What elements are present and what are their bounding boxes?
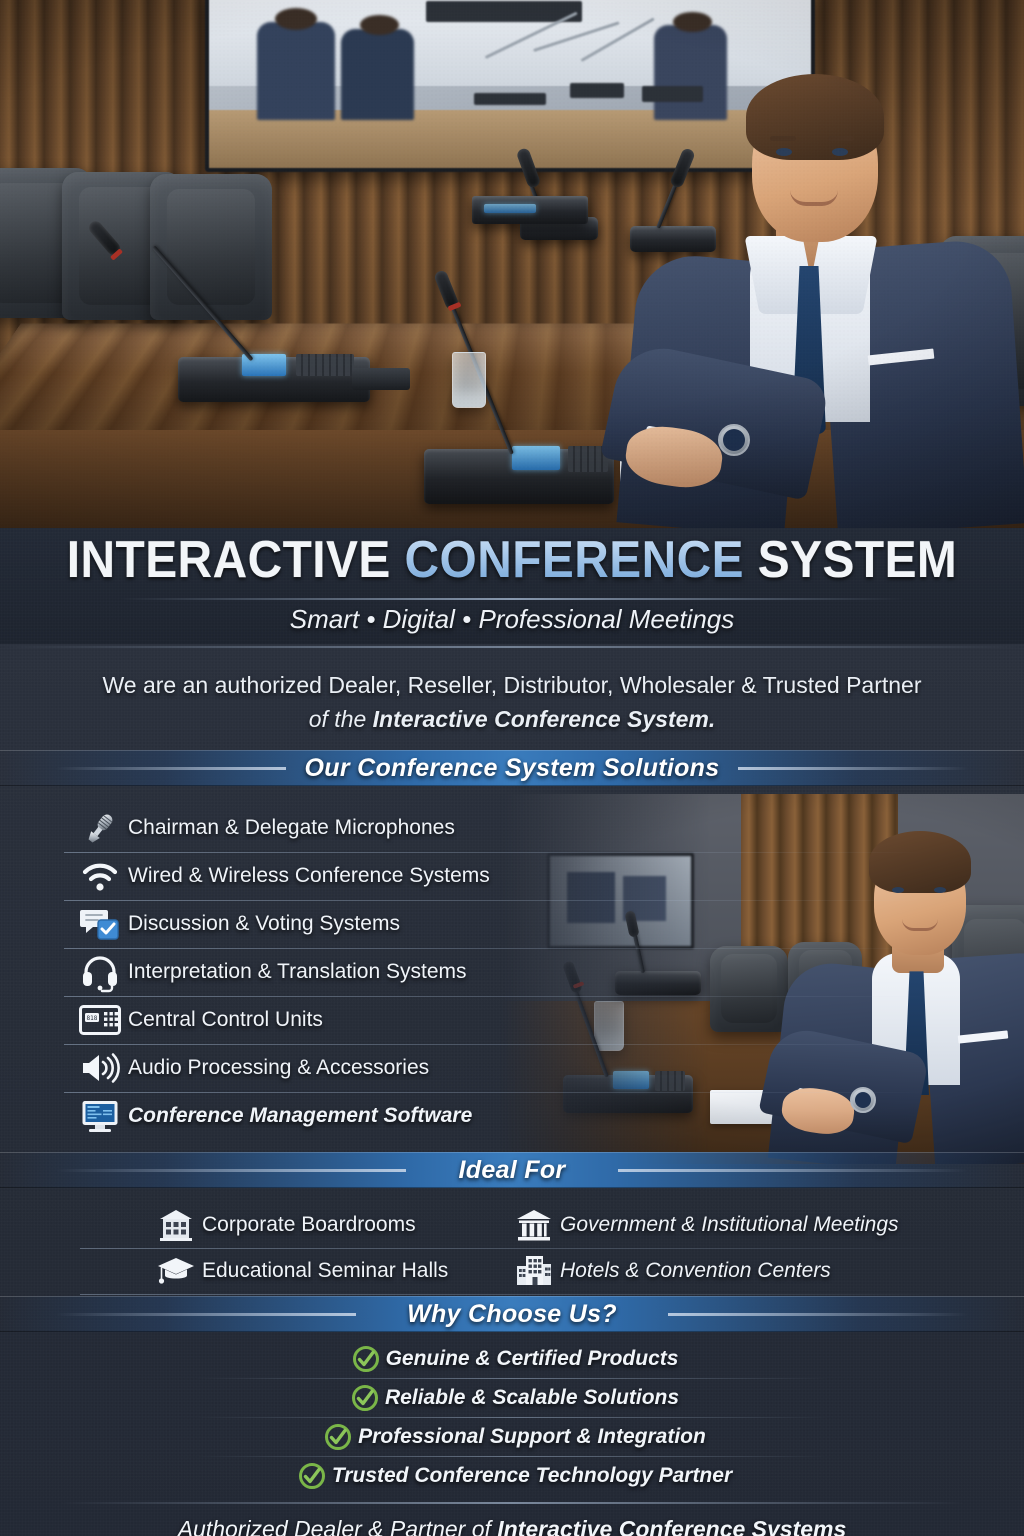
poster-body: We are an authorized Dealer, Reseller, D…: [0, 644, 1024, 1536]
solution-label: Audio Processing & Accessories: [128, 1056, 429, 1080]
why-label: Trusted Conference Technology Partner: [332, 1464, 732, 1488]
page-subtitle: Smart • Digital • Professional Meetings: [0, 604, 1024, 635]
footer-divider: [60, 1502, 964, 1504]
classical-building-icon: [508, 1205, 560, 1245]
check-circle-icon: [345, 1381, 385, 1415]
intro-emphasis: Interactive Conference System.: [373, 706, 716, 732]
why-item-genuine-certified-products[interactable]: Genuine & Certified Products: [0, 1338, 1024, 1380]
solution-item-discussion-voting-systems[interactable]: Discussion & Voting Systems: [72, 900, 552, 948]
check-circle-icon: [346, 1342, 386, 1376]
ideal-item-hotels-convention-centers[interactable]: Hotels & Convention Centers: [508, 1248, 831, 1294]
solution-label: Central Control Units: [128, 1008, 323, 1032]
chat-vote-icon: [72, 904, 128, 944]
graduation-cap-icon: [150, 1251, 202, 1291]
why-item-professional-support-integration[interactable]: Professional Support & Integration: [0, 1416, 1024, 1458]
svg-text:818: 818: [87, 1015, 98, 1022]
solution-label: Chairman & Delegate Microphones: [128, 816, 455, 840]
chairman-microphone-unit: [178, 330, 370, 402]
ideal-label: Government & Institutional Meetings: [560, 1213, 899, 1237]
footer-prefix: Authorized Dealer & Partner of: [178, 1516, 498, 1536]
intro-text-1: We are an authorized Dealer, Reseller, D…: [102, 672, 921, 698]
title-part-1: INTERACTIVE: [67, 531, 405, 589]
title-divider: [120, 598, 904, 600]
solution-label: Interpretation & Translation Systems: [128, 960, 467, 984]
hero-conference-room-photo: [0, 0, 1024, 528]
speaker-icon: [72, 1048, 128, 1088]
ideal-item-corporate-boardrooms[interactable]: Corporate Boardrooms: [150, 1202, 416, 1248]
footer-emphasis: Interactive Conference Systems: [497, 1516, 846, 1536]
section-header-solutions: Our Conference System Solutions: [0, 750, 1024, 786]
solution-label: Wired & Wireless Conference Systems: [128, 864, 490, 888]
hotel-icon: [508, 1251, 560, 1291]
ideal-item-educational-seminar-halls[interactable]: Educational Seminar Halls: [150, 1248, 448, 1294]
solution-label: Conference Management Software: [128, 1104, 472, 1128]
inline-conference-photo: [500, 794, 1024, 1164]
title-band: INTERACTIVE CONFERENCE SYSTEM Smart • Di…: [0, 528, 1024, 644]
businessman-photo-subject: [600, 30, 1024, 528]
chair: [150, 174, 272, 320]
title-highlight: CONFERENCE: [405, 531, 745, 589]
ideal-item-government-institutional-meetings[interactable]: Government & Institutional Meetings: [508, 1202, 899, 1248]
office-building-icon: [150, 1205, 202, 1245]
headset-icon: [72, 952, 128, 992]
solution-label: Discussion & Voting Systems: [128, 912, 400, 936]
section-header-why-choose-us: Why Choose Us?: [0, 1296, 1024, 1332]
intro-prefix: of the: [309, 706, 373, 732]
microphone-icon: [72, 808, 128, 848]
why-item-reliable-scalable-solutions[interactable]: Reliable & Scalable Solutions: [0, 1377, 1024, 1419]
central-control-unit: [472, 196, 588, 224]
solution-item-audio-processing-accessories[interactable]: Audio Processing & Accessories: [72, 1044, 552, 1092]
intro-top-divider: [0, 646, 1024, 648]
why-item-trusted-conference-technology-partner[interactable]: Trusted Conference Technology Partner: [0, 1455, 1024, 1497]
table-plate: [352, 368, 410, 390]
page-title: INTERACTIVE CONFERENCE SYSTEM: [41, 534, 983, 586]
intro-line-1: We are an authorized Dealer, Reseller, D…: [0, 668, 1024, 702]
wifi-icon: [72, 856, 128, 896]
poster-root: INTERACTIVE CONFERENCE SYSTEM Smart • Di…: [0, 0, 1024, 1536]
water-glass: [452, 352, 486, 408]
monitor-icon: [72, 1096, 128, 1136]
control-unit-icon: 818: [72, 1000, 128, 1040]
intro-line-2: of the Interactive Conference System.: [0, 702, 1024, 736]
title-part-2: SYSTEM: [744, 531, 957, 589]
footer-text: Authorized Dealer & Partner of Interacti…: [0, 1516, 1024, 1536]
ideal-label: Educational Seminar Halls: [202, 1259, 448, 1283]
why-label: Reliable & Scalable Solutions: [385, 1386, 679, 1410]
solution-item-chairman-delegate-microphones[interactable]: Chairman & Delegate Microphones: [72, 804, 552, 852]
why-label: Genuine & Certified Products: [386, 1347, 679, 1371]
why-label: Professional Support & Integration: [358, 1425, 706, 1449]
section-header-ideal-for: Ideal For: [0, 1152, 1024, 1188]
check-circle-icon: [292, 1459, 332, 1493]
check-circle-icon: [318, 1420, 358, 1454]
ideal-label: Hotels & Convention Centers: [560, 1259, 831, 1283]
solution-item-conference-management-software[interactable]: Conference Management Software: [72, 1092, 552, 1140]
solution-item-interpretation-translation-systems[interactable]: Interpretation & Translation Systems: [72, 948, 552, 996]
solution-item-central-control-units[interactable]: 818 Central Control Units: [72, 996, 552, 1044]
ideal-label: Corporate Boardrooms: [202, 1213, 416, 1237]
solution-item-wired-wireless-conference-systems[interactable]: Wired & Wireless Conference Systems: [72, 852, 552, 900]
chairman-microphone-unit: [424, 420, 614, 504]
